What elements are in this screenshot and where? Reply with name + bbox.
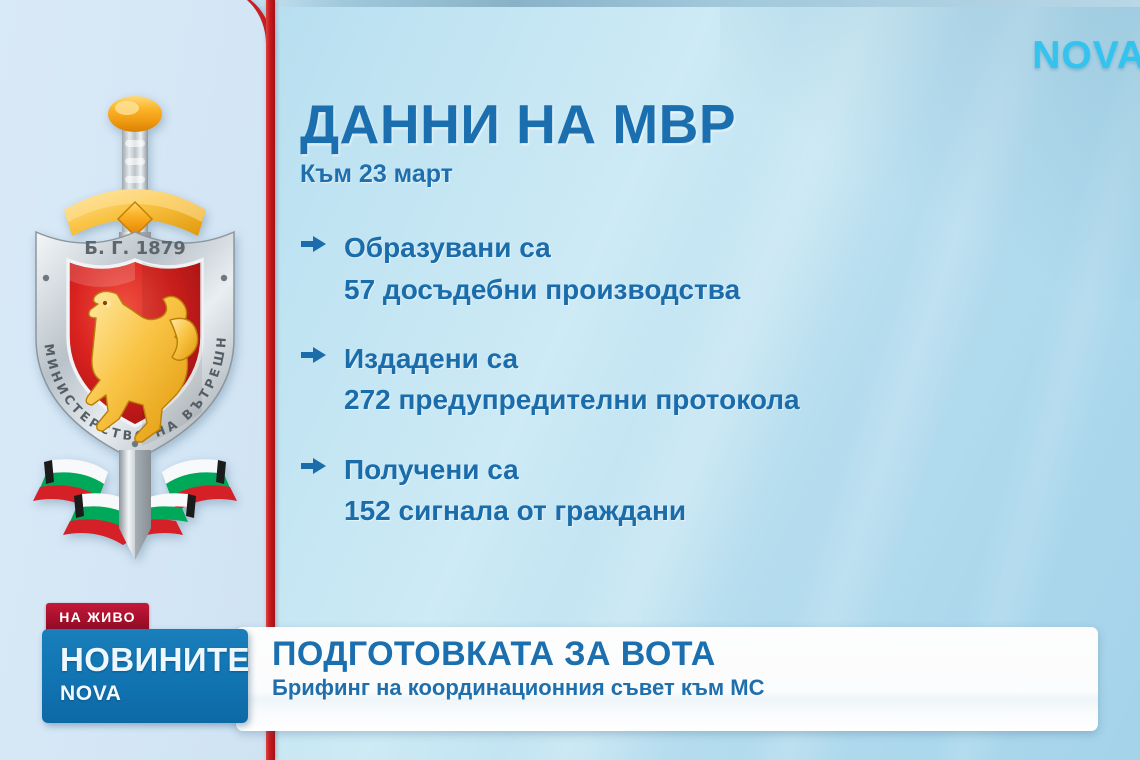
banner-subheadline: Брифинг на координационния съвет към МС — [272, 675, 1098, 701]
page-title: ДАННИ НА МВР — [300, 96, 1090, 152]
arrow-right-icon — [300, 455, 336, 477]
stats-bullet-list: Образувани са 57 досъдебни производства … — [300, 227, 1090, 532]
svg-text:Б. Г. 1879: Б. Г. 1879 — [84, 238, 186, 259]
list-item: Образувани са 57 досъдебни производства — [300, 227, 1090, 310]
arrow-right-icon — [300, 344, 336, 366]
news-channel-logo: НОВИНИТЕ NOVA — [42, 629, 248, 723]
list-item-text: Образувани са 57 досъдебни производства — [344, 227, 740, 310]
banner-headline: ПОДГОТОВКАТА ЗА ВОТА — [272, 636, 1098, 673]
list-item-line-2: 152 сигнала от граждани — [344, 490, 686, 531]
news-logo-primary-text: НОВИНИТЕ — [60, 643, 248, 676]
list-item-text: Издадени са 272 предупредителни протокол… — [344, 338, 800, 421]
news-logo-secondary-text: NOVA — [60, 683, 248, 704]
infographic-content: ДАННИ НА МВР Към 23 март Образувани са 5… — [300, 96, 1090, 532]
list-item-line-2: 57 досъдебни производства — [344, 269, 740, 310]
list-item-line-1: Образувани са — [344, 232, 551, 263]
lower-third-banner: ПОДГОТОВКАТА ЗА ВОТА Брифинг на координа… — [236, 627, 1098, 731]
list-item-line-1: Получени са — [344, 454, 519, 485]
list-item-text: Получени са 152 сигнала от граждани — [344, 449, 686, 532]
arrow-right-icon — [300, 233, 336, 255]
list-item: Издадени са 272 предупредителни протокол… — [300, 338, 1090, 421]
live-badge: НА ЖИВО — [46, 603, 149, 631]
list-item-line-2: 272 предупредителни протокола — [344, 379, 800, 420]
page-subtitle: Към 23 март — [300, 160, 1090, 189]
list-item-line-1: Издадени са — [344, 343, 518, 374]
broadcast-graphic-stage: Б. Г. 1879 МИНИСТЕРСТВО НА ВЪТРЕШНИТЕ РА… — [0, 0, 1140, 760]
list-item: Получени са 152 сигнала от граждани — [300, 449, 1090, 532]
channel-watermark: NOVA — [1032, 34, 1140, 78]
ministry-emblem: Б. Г. 1879 МИНИСТЕРСТВО НА ВЪТРЕШНИТЕ РА… — [22, 82, 248, 582]
live-badge-label: НА ЖИВО — [59, 609, 136, 625]
